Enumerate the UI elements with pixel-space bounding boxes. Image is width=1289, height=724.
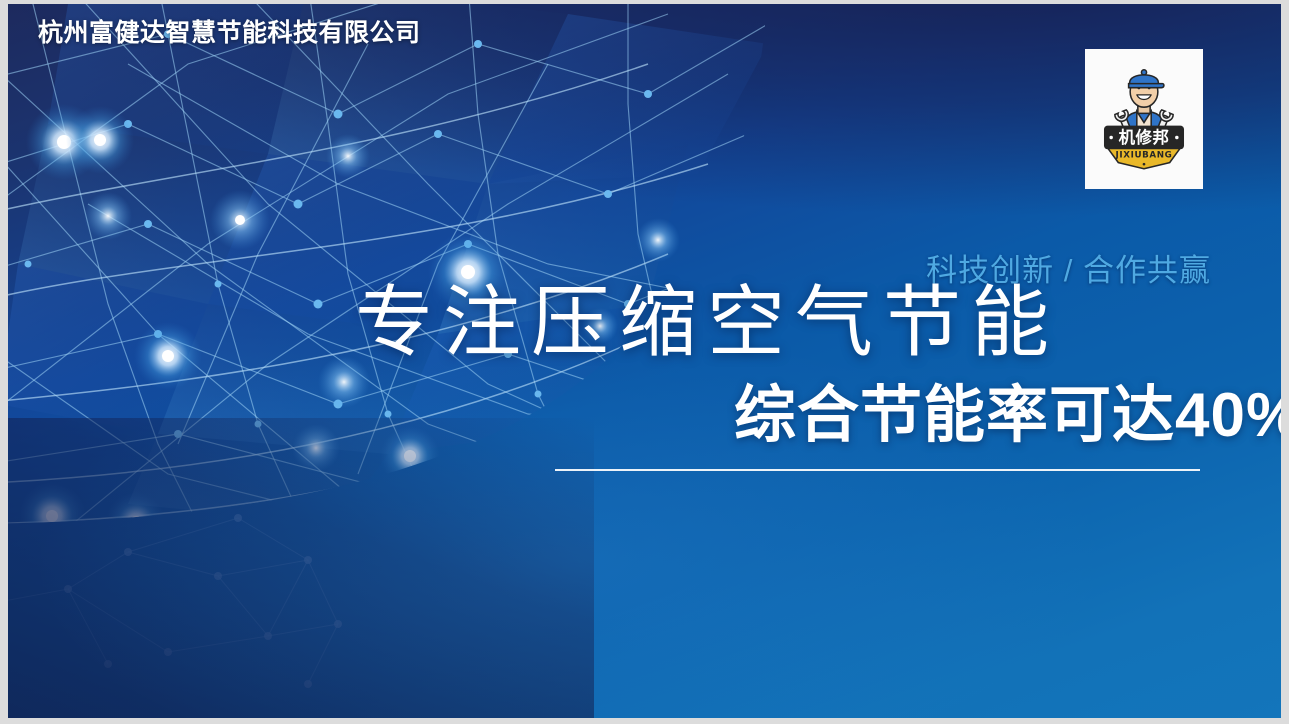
headline-divider-rule	[555, 469, 1200, 471]
svg-text:JIXIUBANG: JIXIUBANG	[1115, 150, 1173, 160]
banner-slide: 杭州富健达智慧节能科技有限公司	[8, 4, 1281, 718]
svg-text:机修邦: 机修邦	[1119, 128, 1170, 147]
headline-secondary: 综合节能率可达40%	[734, 385, 1281, 447]
headline-primary: 专注压缩空气节能	[355, 284, 1059, 362]
brand-logo: JIXIUBANG 机修邦	[1085, 49, 1203, 189]
company-name: 杭州富健达智慧节能科技有限公司	[38, 13, 421, 49]
slide-frame: 杭州富健达智慧节能科技有限公司	[0, 0, 1289, 724]
jixiubang-logo-icon: JIXIUBANG 机修邦	[1092, 60, 1196, 178]
